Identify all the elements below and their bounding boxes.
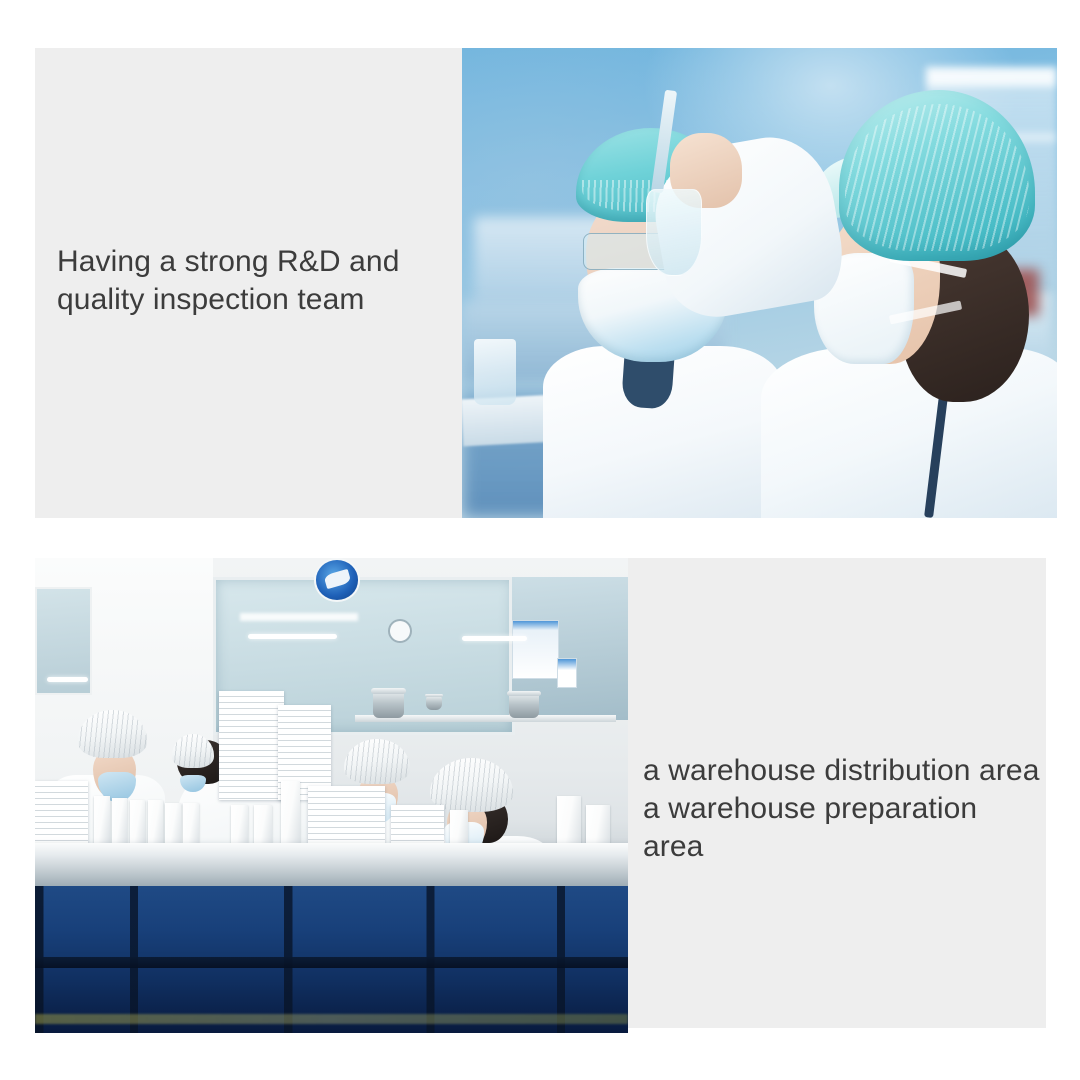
steel-pot bbox=[373, 691, 404, 718]
wall-clock bbox=[388, 619, 412, 643]
hairnet bbox=[430, 758, 513, 813]
table-rail bbox=[35, 957, 628, 968]
hairnet bbox=[78, 710, 148, 758]
promo-collage: Having a strong R&D and quality inspecti… bbox=[0, 0, 1080, 1080]
steel-cup bbox=[426, 696, 441, 710]
bottom-caption-text: a warehouse distribution area a warehous… bbox=[643, 752, 1043, 866]
lab-beaker bbox=[474, 339, 516, 405]
hairnet-cap bbox=[839, 90, 1035, 261]
lab-technician-profile bbox=[777, 90, 1057, 518]
ceiling-light bbox=[462, 636, 527, 641]
steel-pot bbox=[509, 693, 539, 718]
glass-flask bbox=[646, 189, 702, 276]
hairnet bbox=[172, 734, 215, 768]
carton-stack bbox=[35, 781, 88, 848]
wall-poster-small bbox=[557, 658, 577, 689]
wall-poster bbox=[512, 620, 558, 679]
hairnet bbox=[344, 739, 411, 785]
stainless-steel-table bbox=[35, 843, 628, 886]
floor-marking-strip bbox=[35, 1014, 628, 1024]
carton-stack bbox=[219, 691, 284, 800]
lab-team-photo bbox=[462, 48, 1057, 518]
blue-circular-sign bbox=[314, 558, 361, 602]
ceiling-light bbox=[47, 677, 89, 682]
carton bbox=[94, 796, 109, 848]
ceiling-light bbox=[248, 634, 337, 639]
top-caption-text: Having a strong R&D and quality inspecti… bbox=[57, 243, 457, 319]
packing-room-photo bbox=[35, 558, 628, 1033]
tall-carton bbox=[281, 781, 300, 852]
